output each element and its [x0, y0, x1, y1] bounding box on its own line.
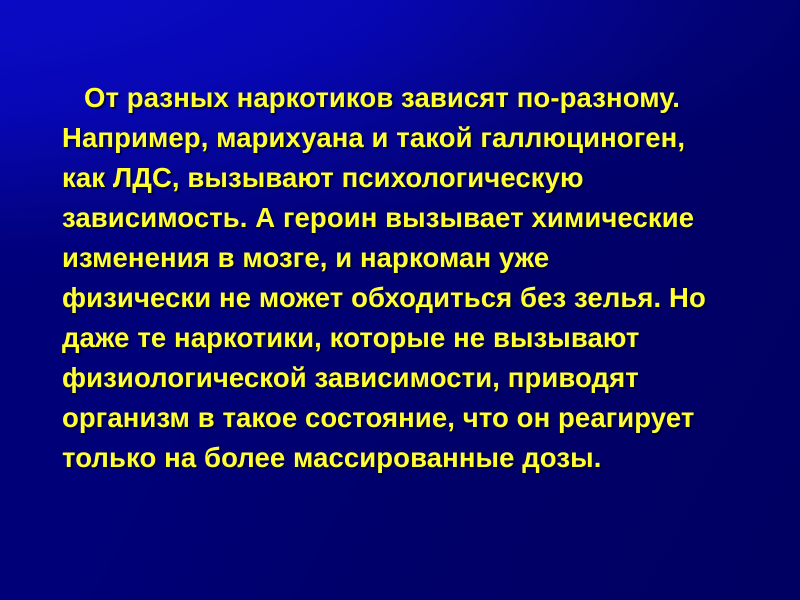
slide-text-line: организм в такое состояние, что он реаги… [62, 398, 762, 438]
slide-text-line: только на более массированные дозы. [62, 438, 762, 478]
slide-text-line: даже те наркотики, которые не вызывают [62, 318, 762, 358]
slide-text-line: От разных наркотиков зависят по-разному. [62, 78, 762, 118]
slide-text-line: Например, марихуана и такой галлюциноген… [62, 118, 762, 158]
slide-text-line: как ЛДС, вызывают психологическую [62, 158, 762, 198]
slide-text-line: изменения в мозге, и наркоман уже [62, 238, 762, 278]
slide-text-line: физиологической зависимости, приводят [62, 358, 762, 398]
presentation-slide: От разных наркотиков зависят по-разному.… [0, 0, 800, 600]
slide-body-text: От разных наркотиков зависят по-разному.… [62, 78, 762, 478]
slide-text-line: зависимость. А героин вызывает химически… [62, 198, 762, 238]
slide-text-line: физически не может обходиться без зелья.… [62, 278, 762, 318]
